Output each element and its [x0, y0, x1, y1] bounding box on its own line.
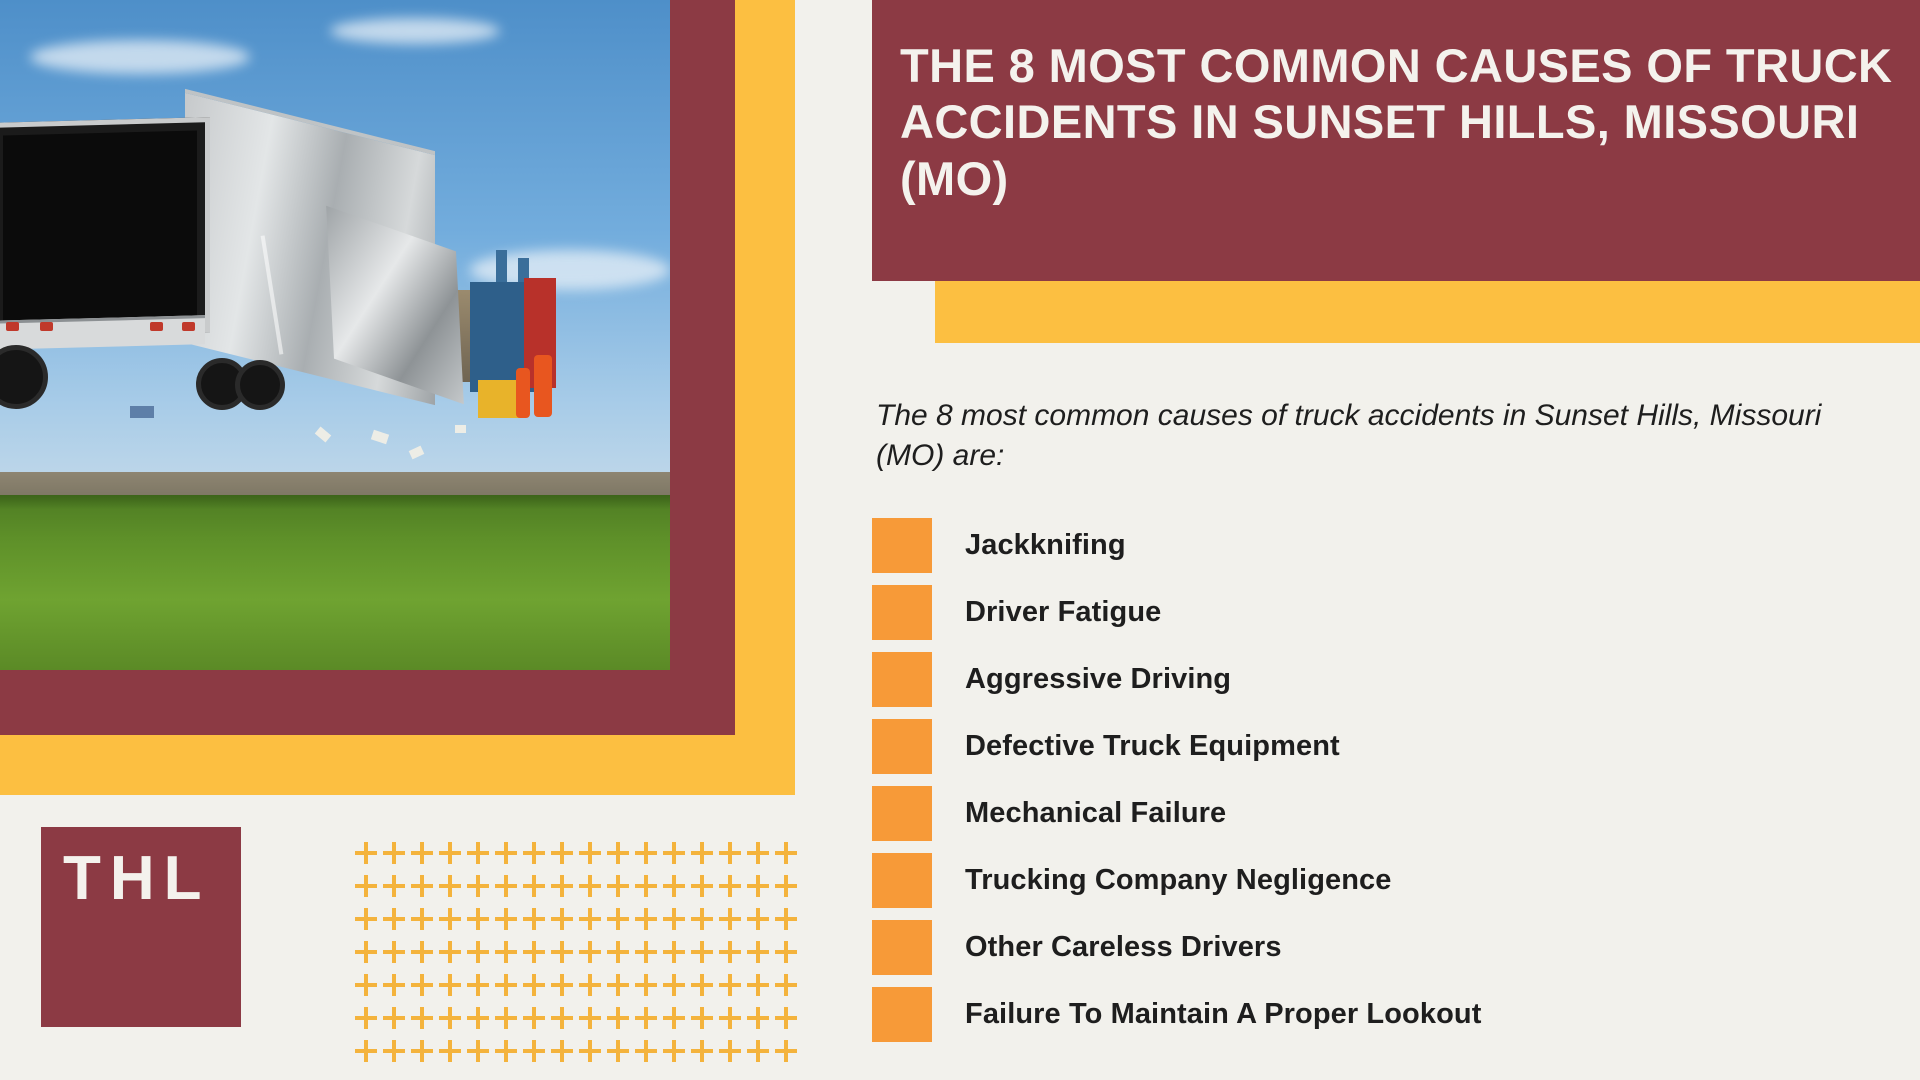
- plus-icon: [383, 937, 411, 970]
- list-item-label: Mechanical Failure: [965, 797, 1226, 830]
- list-item: Trucking Company Negligence: [872, 847, 1912, 914]
- plus-icon: [635, 1003, 663, 1036]
- plus-icon: [775, 871, 803, 904]
- list-item: Failure To Maintain A Proper Lookout: [872, 981, 1912, 1048]
- photo-tail-light: [40, 322, 53, 331]
- photo-tail-light: [6, 322, 19, 331]
- plus-icon: [775, 1036, 803, 1069]
- plus-icon: [719, 970, 747, 1003]
- plus-icon: [495, 970, 523, 1003]
- plus-icon: [495, 904, 523, 937]
- plus-icon: [607, 838, 635, 871]
- list-item-label: Failure To Maintain A Proper Lookout: [965, 998, 1481, 1031]
- plus-icon: [691, 1036, 719, 1069]
- logo-text: THL: [63, 843, 211, 914]
- plus-icon: [663, 838, 691, 871]
- list-item: Aggressive Driving: [872, 646, 1912, 713]
- page-title: THE 8 MOST COMMON CAUSES OF TRUCK ACCIDE…: [900, 38, 1902, 207]
- plus-icon: [775, 838, 803, 871]
- bullet-square-icon: [872, 719, 932, 774]
- photo-worker: [534, 355, 552, 417]
- bullet-square-icon: [872, 987, 932, 1042]
- plus-icon: [719, 871, 747, 904]
- plus-icon: [495, 937, 523, 970]
- photo-cloud: [30, 40, 250, 74]
- plus-icon: [719, 937, 747, 970]
- plus-icon: [411, 970, 439, 1003]
- list-item: Defective Truck Equipment: [872, 713, 1912, 780]
- plus-icon: [663, 871, 691, 904]
- plus-icon: [663, 1003, 691, 1036]
- truck-accident-photo: [0, 0, 670, 670]
- plus-icon: [355, 970, 383, 1003]
- plus-icon: [383, 904, 411, 937]
- plus-icon: [467, 1036, 495, 1069]
- plus-icon: [551, 937, 579, 970]
- bullet-square-icon: [872, 853, 932, 908]
- plus-icon: [635, 904, 663, 937]
- plus-icon: [467, 1003, 495, 1036]
- plus-icon: [747, 937, 775, 970]
- list-item: Jackknifing: [872, 512, 1912, 579]
- plus-icon: [383, 970, 411, 1003]
- plus-icon: [551, 1036, 579, 1069]
- plus-icon: [355, 1036, 383, 1069]
- list-item-label: Other Careless Drivers: [965, 931, 1282, 964]
- list-item: Driver Fatigue: [872, 579, 1912, 646]
- photo-frame: [0, 0, 795, 795]
- plus-icon: [551, 904, 579, 937]
- plus-icon: [523, 904, 551, 937]
- plus-icon: [355, 937, 383, 970]
- plus-icon: [355, 838, 383, 871]
- plus-icon: [747, 904, 775, 937]
- plus-icon: [747, 1036, 775, 1069]
- plus-icon: [607, 871, 635, 904]
- plus-icon: [355, 904, 383, 937]
- plus-pattern-decoration: [355, 838, 803, 1069]
- plus-icon: [579, 937, 607, 970]
- list-item-label: Trucking Company Negligence: [965, 864, 1392, 897]
- plus-icon: [579, 871, 607, 904]
- list-item-label: Driver Fatigue: [965, 596, 1161, 629]
- plus-icon: [607, 937, 635, 970]
- photo-tail-light: [150, 322, 163, 331]
- plus-icon: [411, 1036, 439, 1069]
- plus-icon: [439, 1003, 467, 1036]
- plus-icon: [439, 838, 467, 871]
- plus-icon: [775, 937, 803, 970]
- plus-icon: [551, 871, 579, 904]
- plus-icon: [579, 1003, 607, 1036]
- plus-icon: [663, 970, 691, 1003]
- list-item-label: Defective Truck Equipment: [965, 730, 1340, 763]
- plus-icon: [439, 937, 467, 970]
- list-item: Other Careless Drivers: [872, 914, 1912, 981]
- plus-icon: [467, 970, 495, 1003]
- plus-icon: [551, 970, 579, 1003]
- plus-icon: [383, 838, 411, 871]
- plus-icon: [551, 838, 579, 871]
- plus-icon: [607, 970, 635, 1003]
- plus-icon: [663, 937, 691, 970]
- plus-icon: [495, 838, 523, 871]
- plus-icon: [635, 1036, 663, 1069]
- plus-icon: [495, 871, 523, 904]
- plus-icon: [719, 904, 747, 937]
- bullet-square-icon: [872, 920, 932, 975]
- plus-icon: [691, 904, 719, 937]
- photo-wheel: [235, 360, 285, 410]
- plus-icon: [607, 904, 635, 937]
- plus-icon: [775, 970, 803, 1003]
- photo-debris: [455, 425, 466, 433]
- plus-icon: [635, 871, 663, 904]
- plus-icon: [579, 970, 607, 1003]
- plus-icon: [663, 904, 691, 937]
- plus-icon: [747, 871, 775, 904]
- plus-icon: [607, 1003, 635, 1036]
- plus-icon: [635, 838, 663, 871]
- plus-icon: [439, 871, 467, 904]
- intro-paragraph: The 8 most common causes of truck accide…: [876, 396, 1886, 476]
- plus-icon: [635, 970, 663, 1003]
- photo-trailer-opening: [3, 130, 197, 324]
- plus-icon: [691, 970, 719, 1003]
- plus-icon: [579, 838, 607, 871]
- title-banner: THE 8 MOST COMMON CAUSES OF TRUCK ACCIDE…: [872, 0, 1920, 281]
- plus-icon: [439, 904, 467, 937]
- plus-icon: [411, 871, 439, 904]
- plus-icon: [663, 1036, 691, 1069]
- plus-icon: [355, 1003, 383, 1036]
- plus-icon: [523, 838, 551, 871]
- plus-icon: [523, 871, 551, 904]
- list-item-label: Aggressive Driving: [965, 663, 1231, 696]
- plus-icon: [691, 871, 719, 904]
- plus-icon: [523, 970, 551, 1003]
- photo-cloud: [330, 18, 500, 44]
- plus-icon: [775, 904, 803, 937]
- plus-icon: [635, 937, 663, 970]
- photo-trailer-rear: [0, 117, 210, 338]
- plus-icon: [467, 871, 495, 904]
- plus-icon: [607, 1036, 635, 1069]
- bullet-square-icon: [872, 786, 932, 841]
- plus-icon: [691, 838, 719, 871]
- photo-debris: [130, 406, 154, 418]
- plus-icon: [467, 838, 495, 871]
- plus-icon: [411, 1003, 439, 1036]
- list-item: Mechanical Failure: [872, 780, 1912, 847]
- plus-icon: [579, 904, 607, 937]
- plus-icon: [383, 1003, 411, 1036]
- bullet-square-icon: [872, 518, 932, 573]
- plus-icon: [719, 1036, 747, 1069]
- plus-icon: [467, 904, 495, 937]
- plus-icon: [411, 904, 439, 937]
- plus-icon: [495, 1003, 523, 1036]
- plus-icon: [747, 838, 775, 871]
- plus-icon: [719, 1003, 747, 1036]
- plus-icon: [551, 1003, 579, 1036]
- plus-icon: [747, 970, 775, 1003]
- plus-icon: [355, 871, 383, 904]
- plus-icon: [439, 1036, 467, 1069]
- bullet-square-icon: [872, 652, 932, 707]
- plus-icon: [691, 937, 719, 970]
- plus-icon: [467, 937, 495, 970]
- title-yellow-accent-bar: [935, 281, 1920, 343]
- plus-icon: [495, 1036, 523, 1069]
- photo-trailer-bumper: [0, 315, 205, 350]
- plus-icon: [579, 1036, 607, 1069]
- photo-tail-light: [182, 322, 195, 331]
- plus-icon: [775, 1003, 803, 1036]
- photo-grass: [0, 495, 670, 670]
- bullet-square-icon: [872, 585, 932, 640]
- thl-logo: THL: [41, 827, 241, 1027]
- plus-icon: [383, 1036, 411, 1069]
- causes-list: Jackknifing Driver Fatigue Aggressive Dr…: [872, 512, 1912, 1048]
- plus-icon: [719, 838, 747, 871]
- plus-icon: [439, 970, 467, 1003]
- list-item-label: Jackknifing: [965, 529, 1126, 562]
- photo-worker: [516, 368, 530, 418]
- plus-icon: [411, 937, 439, 970]
- plus-icon: [411, 838, 439, 871]
- plus-icon: [523, 937, 551, 970]
- plus-icon: [691, 1003, 719, 1036]
- plus-icon: [523, 1003, 551, 1036]
- plus-icon: [523, 1036, 551, 1069]
- plus-icon: [383, 871, 411, 904]
- plus-icon: [747, 1003, 775, 1036]
